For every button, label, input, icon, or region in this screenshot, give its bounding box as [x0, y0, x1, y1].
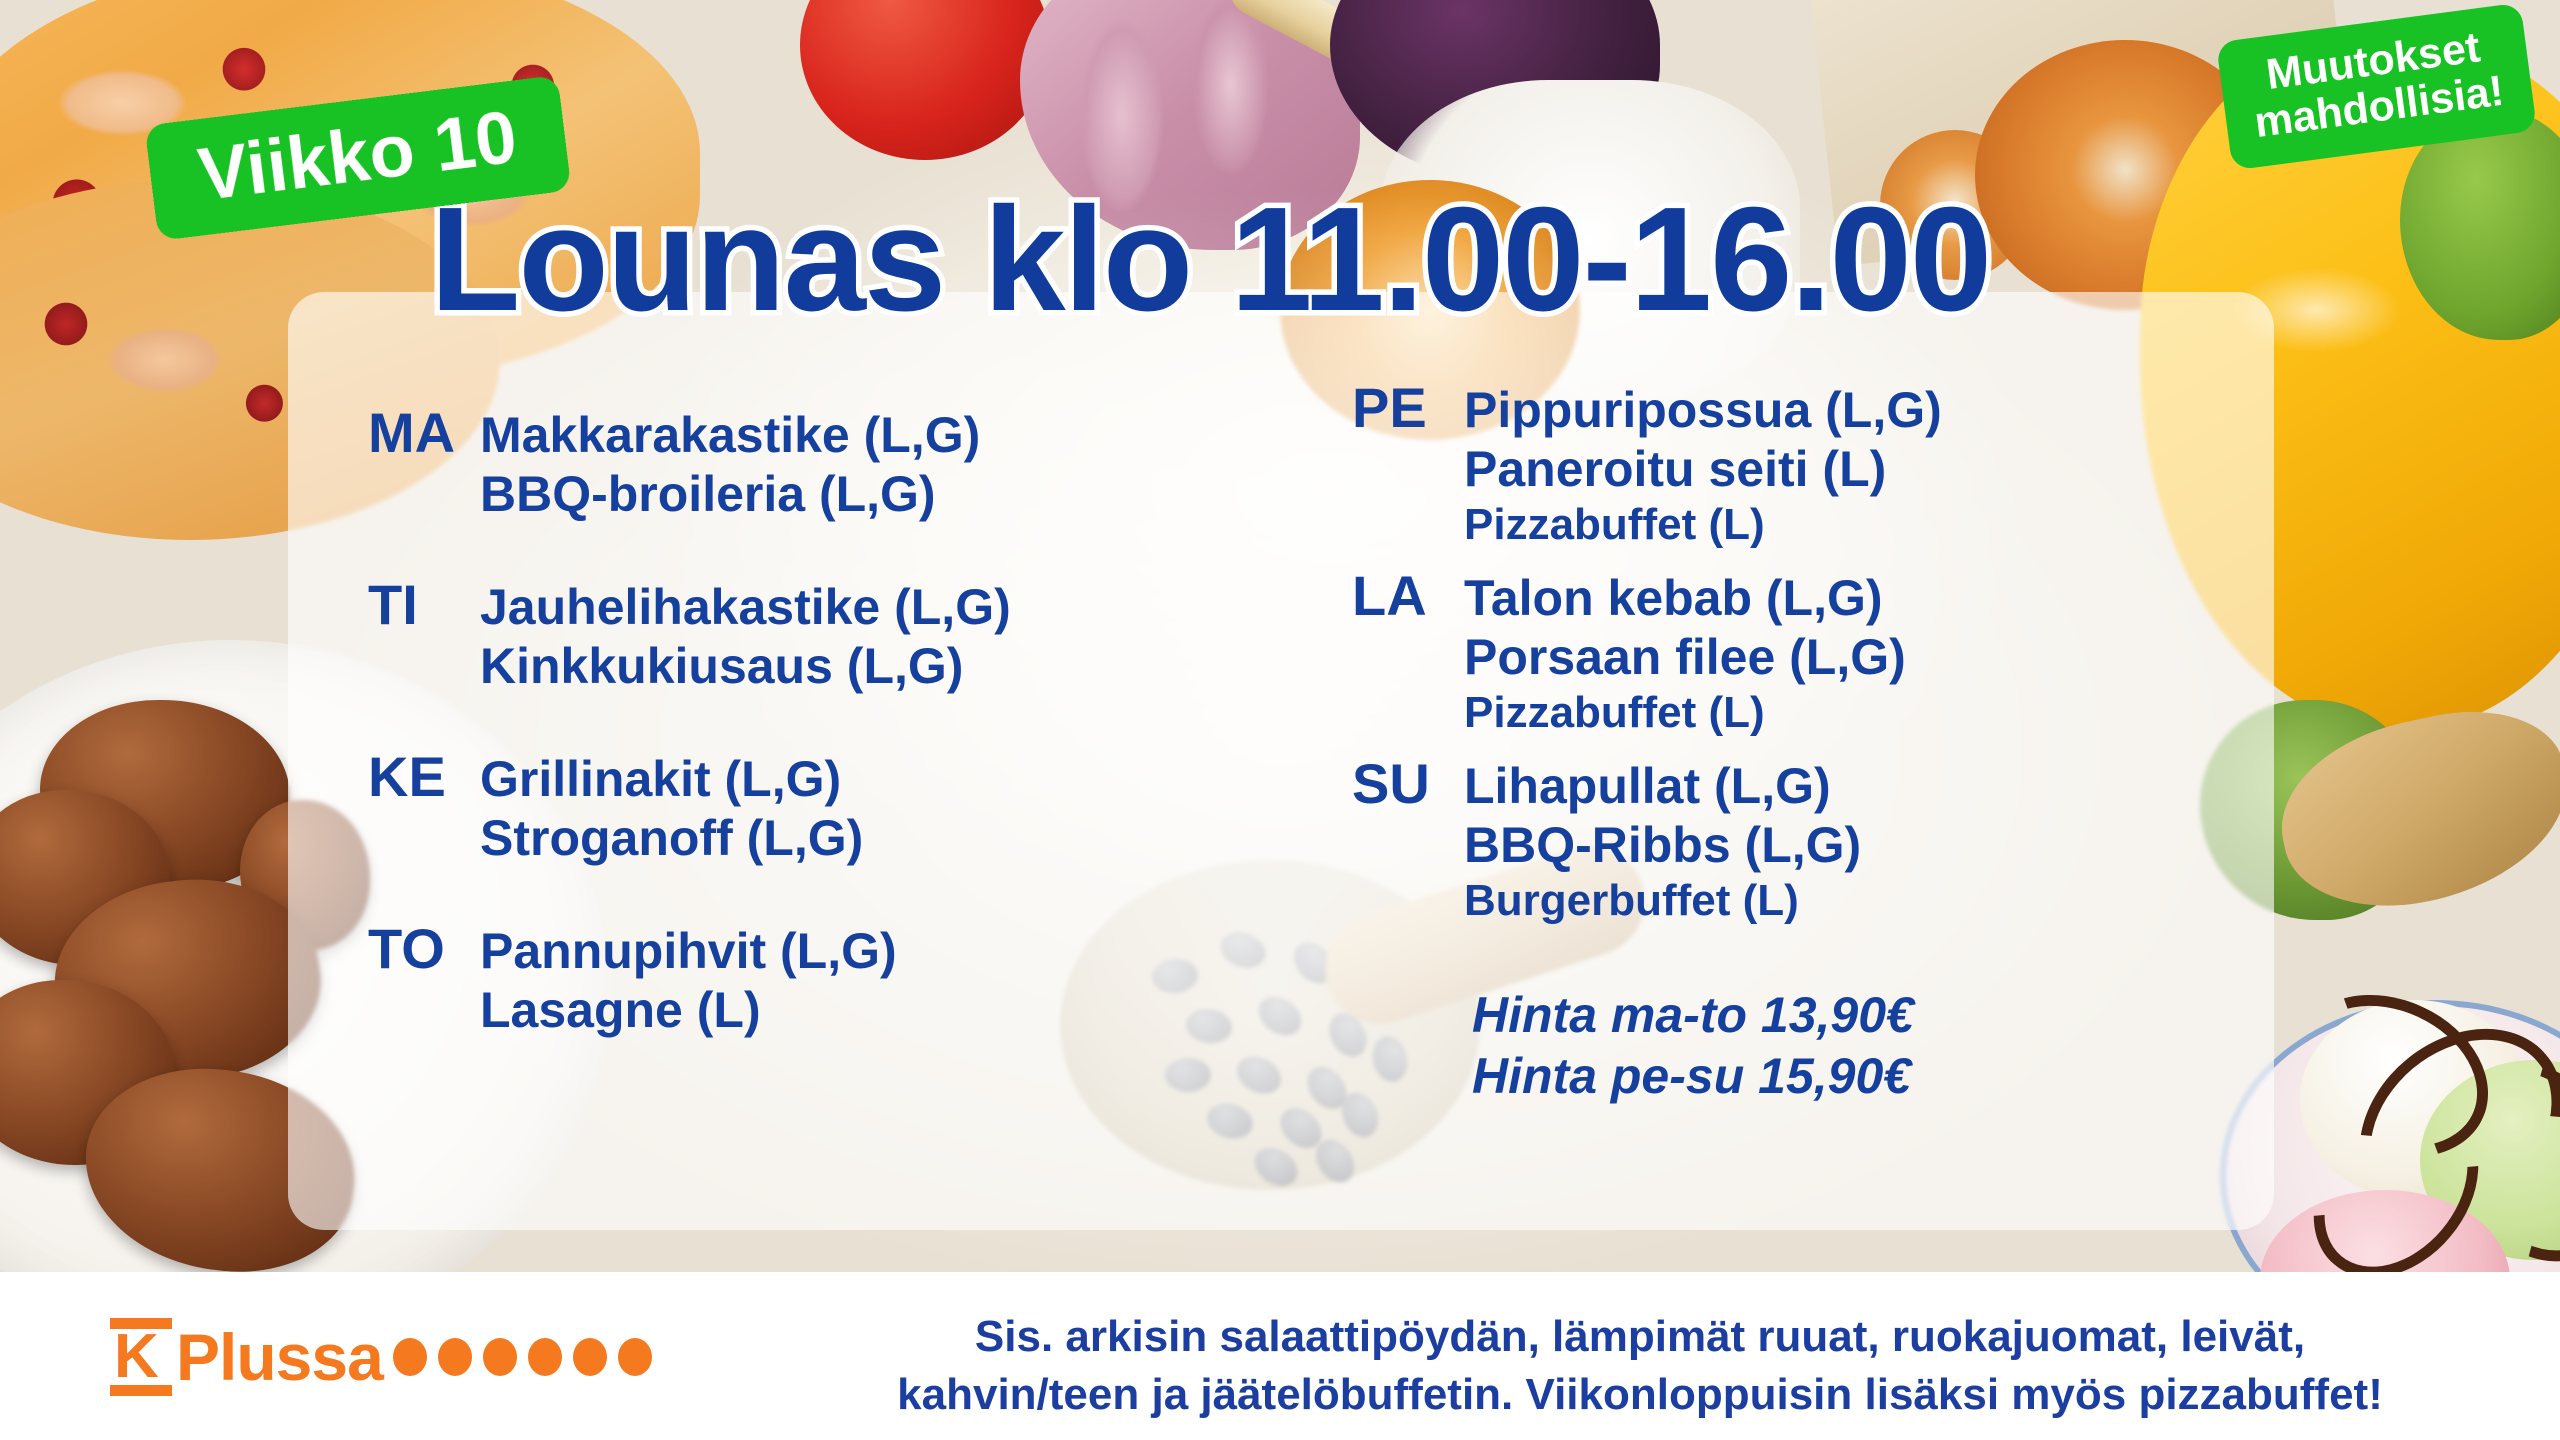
- footer-line-1: Sis. arkisin salaattipöydän, lämpimät ru…: [760, 1308, 2520, 1366]
- menu-dish-list: Grillinakit (L,G)Stroganoff (L,G): [480, 750, 1268, 868]
- k-letter: K: [114, 1330, 159, 1384]
- menu-dish-list: Makkarakastike (L,G)BBQ-broileria (L,G): [480, 406, 1268, 524]
- price-block: Hinta ma-to 13,90€ Hinta pe-su 15,90€: [1352, 985, 2272, 1107]
- menu-dish: BBQ-broileria (L,G): [480, 465, 1268, 524]
- menu-dish: Kinkkukiusaus (L,G): [480, 637, 1268, 696]
- k-bar-bottom: [110, 1385, 172, 1396]
- menu-dish: Lihapullat (L,G): [1464, 757, 2272, 816]
- page-title: Lounas klo 11.00-16.00: [430, 175, 1990, 345]
- menu-dish-list: Jauhelihakastike (L,G)Kinkkukiusaus (L,G…: [480, 578, 1268, 696]
- menu-dish: Paneroitu seiti (L): [1464, 440, 2272, 499]
- menu-dish: Pippuripossua (L,G): [1464, 381, 2272, 440]
- menu-dish: Pizzabuffet (L): [1464, 687, 2272, 739]
- menu-day-ma: MA: [368, 400, 480, 465]
- price-weekend: Hinta pe-su 15,90€: [1472, 1046, 2272, 1107]
- kplussa-logo[interactable]: K Plussa: [110, 1318, 663, 1396]
- menu-dish: Lasagne (L): [480, 981, 1268, 1040]
- menu-spacer: [368, 524, 1268, 572]
- menu-row: KEGrillinakit (L,G)Stroganoff (L,G): [368, 744, 1268, 868]
- plussa-dot: [528, 1338, 562, 1376]
- menu-dish-list: Talon kebab (L,G)Porsaan filee (L,G)Pizz…: [1464, 569, 2272, 739]
- menu-column-left: MAMakkarakastike (L,G)BBQ-broileria (L,G…: [368, 400, 1268, 1040]
- plussa-dot: [618, 1338, 652, 1376]
- menu-dish: Porsaan filee (L,G): [1464, 628, 2272, 687]
- menu-row: PEPippuripossua (L,G)Paneroitu seiti (L)…: [1352, 375, 2272, 551]
- footer-description: Sis. arkisin salaattipöydän, lämpimät ru…: [760, 1308, 2520, 1424]
- menu-dish: Grillinakit (L,G): [480, 750, 1268, 809]
- menu-dish-list: Pannupihvit (L,G)Lasagne (L): [480, 922, 1268, 1040]
- footer-line-2: kahvin/teen ja jäätelöbuffetin. Viikonlo…: [760, 1366, 2520, 1424]
- menu-dish: BBQ-Ribbs (L,G): [1464, 816, 2272, 875]
- menu-dish-list: Lihapullat (L,G)BBQ-Ribbs (L,G)Burgerbuf…: [1464, 757, 2272, 927]
- menu-dish: Stroganoff (L,G): [480, 809, 1268, 868]
- menu-dish: Jauhelihakastike (L,G): [480, 578, 1268, 637]
- menu-day-to: TO: [368, 916, 480, 981]
- price-weekday: Hinta ma-to 13,90€: [1472, 985, 2272, 1046]
- menu-day-la: LA: [1352, 563, 1464, 628]
- menu-dish: Burgerbuffet (L): [1464, 875, 2272, 927]
- menu-day-ke: KE: [368, 744, 480, 809]
- menu-row: TIJauhelihakastike (L,G)Kinkkukiusaus (L…: [368, 572, 1268, 696]
- menu-column-right: PEPippuripossua (L,G)Paneroitu seiti (L)…: [1352, 375, 2272, 1107]
- menu-dish: Talon kebab (L,G): [1464, 569, 2272, 628]
- plussa-dot: [573, 1338, 607, 1376]
- menu-spacer: [1352, 739, 2272, 751]
- plussa-dot: [438, 1338, 472, 1376]
- plussa-wordmark: Plussa: [176, 1324, 383, 1390]
- menu-dish-list: Pippuripossua (L,G)Paneroitu seiti (L)Pi…: [1464, 381, 2272, 551]
- menu-row: SULihapullat (L,G)BBQ-Ribbs (L,G)Burgerb…: [1352, 751, 2272, 927]
- menu-day-pe: PE: [1352, 375, 1464, 440]
- menu-dish: Pizzabuffet (L): [1464, 499, 2272, 551]
- menu-day-su: SU: [1352, 751, 1464, 816]
- menu-spacer: [368, 696, 1268, 744]
- k-mark-icon: K: [110, 1318, 172, 1396]
- lunch-menu-poster: Lounas klo 11.00-16.00 Viikko 10 Muutoks…: [0, 0, 2560, 1440]
- footer-bar: K Plussa Sis. arkisin salaattipöydän, lä…: [0, 1272, 2560, 1440]
- menu-dish: Pannupihvit (L,G): [480, 922, 1268, 981]
- plussa-dots: [393, 1338, 663, 1376]
- menu-spacer: [1352, 551, 2272, 563]
- plussa-dot: [483, 1338, 517, 1376]
- menu-spacer: [368, 868, 1268, 916]
- menu-day-ti: TI: [368, 572, 480, 637]
- menu-row: MAMakkarakastike (L,G)BBQ-broileria (L,G…: [368, 400, 1268, 524]
- plussa-dot: [393, 1338, 427, 1376]
- menu-row: LATalon kebab (L,G)Porsaan filee (L,G)Pi…: [1352, 563, 2272, 739]
- menu-dish: Makkarakastike (L,G): [480, 406, 1268, 465]
- menu-row: TOPannupihvit (L,G)Lasagne (L): [368, 916, 1268, 1040]
